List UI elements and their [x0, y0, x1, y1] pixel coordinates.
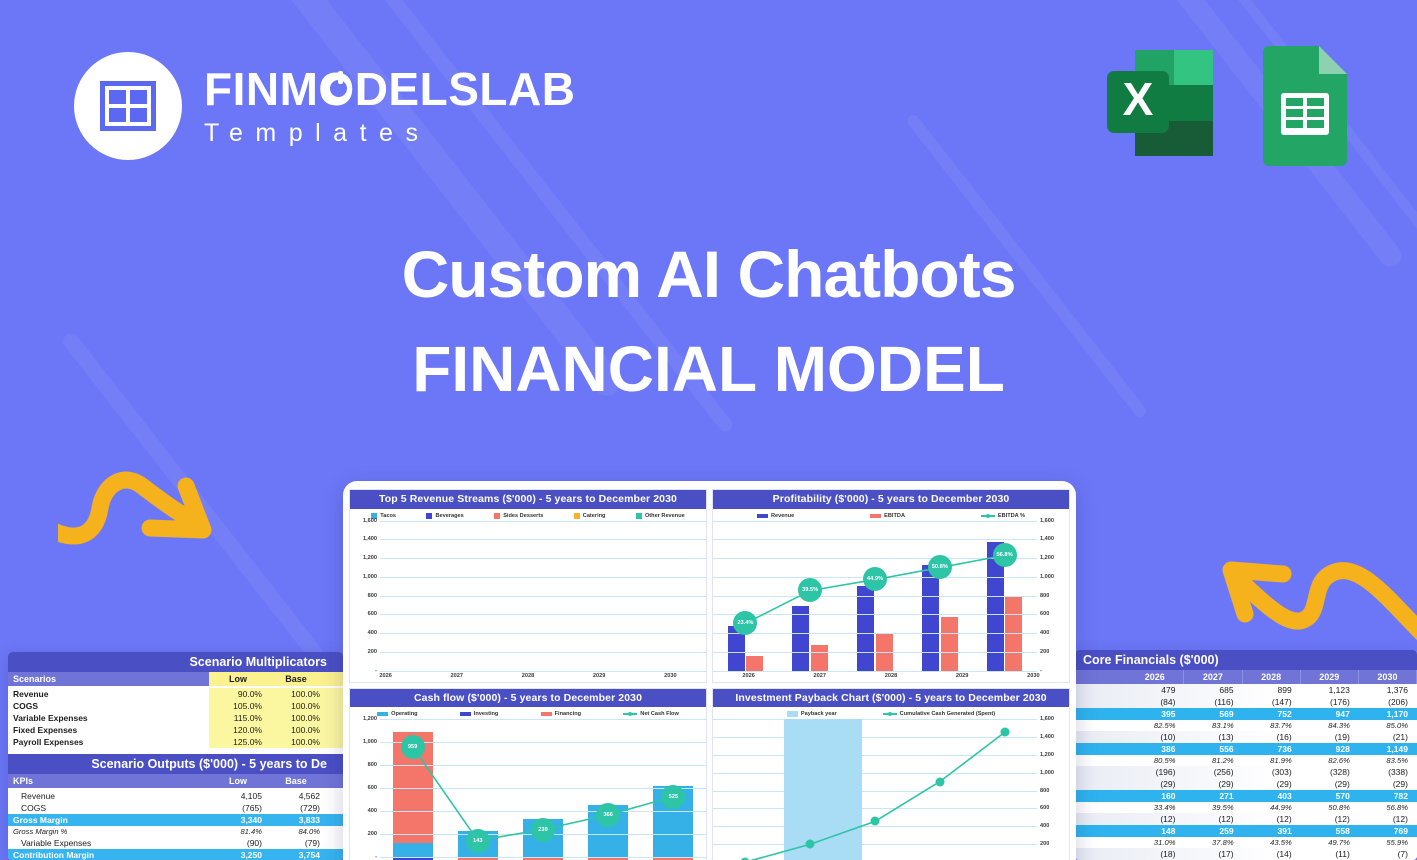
- data-point: [871, 817, 880, 826]
- chart-title: Top 5 Revenue Streams ($'000) - 5 years …: [350, 490, 706, 509]
- legend-swatch: [883, 713, 897, 715]
- legend-item: Beverages: [426, 513, 463, 519]
- table-row: 3865567369281,149: [1075, 743, 1417, 755]
- brand-subtitle: Templates: [204, 121, 575, 146]
- table-cell: 769: [1359, 825, 1417, 837]
- table-cell: 1,170: [1359, 708, 1417, 720]
- plot-area: 23.4%39.5%44.9%50.8%56.8%: [713, 521, 1037, 671]
- table-cell: (196): [1126, 766, 1184, 778]
- scenario-outputs-title: Scenario Outputs ($'000) - 5 years to De: [8, 754, 343, 774]
- header-low: Low: [209, 672, 267, 686]
- table-cell: 37.8%: [1184, 837, 1242, 848]
- y-tick: 600: [1040, 611, 1049, 617]
- y-tick: 1,000: [1040, 770, 1054, 776]
- legend-swatch: [870, 514, 881, 518]
- scenario-multiplicators-title: Scenario Multiplicators: [8, 652, 343, 672]
- table-row: (12)(12)(12)(12)(12): [1075, 813, 1417, 825]
- chart-panel-investment-payback[interactable]: Investment Payback Chart ($'000) - 5 yea…: [712, 688, 1070, 860]
- excel-icon: X: [1097, 38, 1227, 168]
- table-row: 33.4%39.5%44.9%50.8%56.8%: [1075, 802, 1417, 813]
- header-2027: 2027: [1184, 670, 1242, 684]
- table-cell: 569: [1184, 708, 1242, 720]
- y-tick: 1,000: [1040, 574, 1054, 580]
- table-cell: 82.6%: [1301, 755, 1359, 766]
- table-cell: 55.9%: [1359, 837, 1417, 848]
- x-tick: 2028: [522, 673, 534, 679]
- legend-label: Catering: [583, 513, 606, 519]
- table-row: Fixed Expenses 120.0% 100.0%: [8, 724, 343, 736]
- table-cell: (19): [1301, 731, 1359, 743]
- plot-area: [380, 521, 706, 671]
- table-row: Contribution Margin 3,250 3,754: [8, 849, 343, 860]
- table-cell: (12): [1126, 813, 1184, 825]
- row-label: Revenue: [8, 790, 209, 802]
- row-base: 4,562: [267, 790, 325, 802]
- legend-swatch: [460, 712, 471, 716]
- row-low: 125.0%: [209, 736, 267, 748]
- y-tick: 1,000: [363, 739, 377, 745]
- table-cell: (16): [1243, 731, 1301, 743]
- row-base: 100.0%: [267, 736, 325, 748]
- plot-area: [713, 719, 1037, 860]
- chart-legend: Payback year Cumulative Cash Generated (…: [713, 707, 1069, 719]
- headline-line-2: FINANCIAL MODEL: [0, 332, 1417, 408]
- legend-swatch: [636, 513, 642, 519]
- table-cell: (12): [1184, 813, 1242, 825]
- table-row: (196)(256)(303)(328)(338): [1075, 766, 1417, 778]
- table-cell: 160: [1126, 790, 1184, 802]
- legend-label: Net Cash Flow: [640, 711, 679, 717]
- data-label-bubble: 56.8%: [993, 543, 1017, 567]
- curved-arrow-right-icon: [58, 450, 238, 565]
- y-tick: 200: [368, 649, 377, 655]
- core-financials-header: 2026 2027 2028 2029 2030: [1075, 670, 1417, 684]
- table-row: Revenue 90.0% 100.0%: [8, 688, 343, 700]
- x-tick: 2028: [885, 673, 897, 679]
- y-tick: -: [375, 668, 377, 674]
- table-cell: 899: [1243, 684, 1301, 696]
- table-row: (18)(17)(14)(11)(7): [1075, 848, 1417, 860]
- chart-plot: 23.4%39.5%44.9%50.8%56.8% 1,6001,4001,20…: [713, 521, 1069, 671]
- x-tick: 2026: [742, 673, 754, 679]
- data-label-bubble: 239: [531, 818, 555, 842]
- table-cell: 39.5%: [1184, 802, 1242, 813]
- x-tick: 2027: [451, 673, 463, 679]
- ebitda-percent-line: [713, 521, 1037, 671]
- y-tick: 800: [1040, 788, 1049, 794]
- table-row: 4796858991,1231,376: [1075, 684, 1417, 696]
- table-cell: (12): [1301, 813, 1359, 825]
- legend-swatch: [623, 713, 637, 715]
- table-cell: 259: [1184, 825, 1242, 837]
- legend-swatch: [787, 711, 798, 717]
- row-label: COGS: [8, 700, 209, 712]
- chart-panel-revenue-streams[interactable]: Top 5 Revenue Streams ($'000) - 5 years …: [349, 489, 707, 683]
- data-label-bubble: 366: [596, 803, 620, 827]
- table-row: COGS (765) (729): [8, 802, 343, 814]
- header-2029: 2029: [1301, 670, 1359, 684]
- row-base: 3,833: [267, 814, 325, 826]
- table-cell: 386: [1126, 743, 1184, 755]
- core-financials-body: 4796858991,1231,376(84)(116)(147)(176)(2…: [1075, 684, 1417, 860]
- table-cell: (147): [1243, 696, 1301, 708]
- row-label: Gross Margin: [8, 814, 209, 826]
- chart-title: Profitability ($'000) - 5 years to Decem…: [713, 490, 1069, 509]
- y-tick: 400: [368, 630, 377, 636]
- table-cell: 83.1%: [1184, 720, 1242, 731]
- table-row: Variable Expenses 115.0% 100.0%: [8, 712, 343, 724]
- table-cell: 44.9%: [1243, 802, 1301, 813]
- table-cell: (84): [1126, 696, 1184, 708]
- table-cell: 50.8%: [1301, 802, 1359, 813]
- table-cell: (12): [1359, 813, 1417, 825]
- row-low: 105.0%: [209, 700, 267, 712]
- table-cell: (29): [1359, 778, 1417, 790]
- table-cell: 736: [1243, 743, 1301, 755]
- y-tick: 600: [368, 611, 377, 617]
- data-label-bubble: 143: [466, 829, 490, 853]
- y-tick: 1,600: [1040, 716, 1054, 722]
- legend-label: EBITDA: [884, 513, 905, 519]
- y-tick: 600: [368, 785, 377, 791]
- y-tick: 200: [1040, 649, 1049, 655]
- headline-line-1: Custom AI Chatbots: [0, 236, 1417, 314]
- table-cell: (10): [1126, 731, 1184, 743]
- table-row: (84)(116)(147)(176)(206): [1075, 696, 1417, 708]
- table-cell: (17): [1184, 848, 1242, 860]
- table-cell: (29): [1184, 778, 1242, 790]
- y-tick: 600: [1040, 805, 1049, 811]
- y-tick: -: [1040, 668, 1042, 674]
- legend-swatch: [757, 514, 768, 518]
- table-cell: 782: [1359, 790, 1417, 802]
- table-cell: 49.7%: [1301, 837, 1359, 848]
- power-ring-icon: [325, 75, 352, 102]
- table-row: COGS 105.0% 100.0%: [8, 700, 343, 712]
- row-low: 3,340: [209, 814, 267, 826]
- x-tick: 2030: [1027, 673, 1039, 679]
- cumulative-cash-line: [713, 719, 1037, 860]
- core-financials-title: Core Financials ($'000): [1075, 650, 1417, 670]
- scenario-outputs-header: KPIs Low Base: [8, 774, 343, 788]
- plot-area: 959143239366525: [380, 719, 706, 860]
- y-tick: 800: [1040, 593, 1049, 599]
- table-cell: 56.8%: [1359, 802, 1417, 813]
- table-cell: 403: [1243, 790, 1301, 802]
- row-base: 100.0%: [267, 700, 325, 712]
- table-cell: 391: [1243, 825, 1301, 837]
- chart-plot: 1,2001,000800600400200-(200) 95914323936…: [350, 719, 706, 860]
- row-label: Contribution Margin: [8, 849, 209, 860]
- table-cell: (18): [1126, 848, 1184, 860]
- y-tick: 1,400: [1040, 536, 1054, 542]
- table-cell: (176): [1301, 696, 1359, 708]
- brand-name: FINMODELSLAB: [204, 66, 575, 112]
- legend-item: Net Cash Flow: [623, 711, 679, 717]
- row-label: Gross Margin %: [8, 826, 209, 837]
- table-cell: 947: [1301, 708, 1359, 720]
- legend-item: Investing: [460, 711, 499, 717]
- y-axis: 1,6001,4001,2001,000800600400200-: [350, 521, 380, 671]
- table-cell: (29): [1243, 778, 1301, 790]
- x-tick: 2026: [379, 673, 391, 679]
- row-base: 3,754: [267, 849, 325, 860]
- y-tick: 400: [1040, 630, 1049, 636]
- header-base: Base: [267, 672, 325, 686]
- data-label-bubble: 50.8%: [928, 555, 952, 579]
- x-tick: 2029: [593, 673, 605, 679]
- table-cell: 81.2%: [1184, 755, 1242, 766]
- row-base: 100.0%: [267, 688, 325, 700]
- data-label-bubble: 39.5%: [798, 578, 822, 602]
- header-low: Low: [209, 774, 267, 788]
- legend-item: Payback year: [787, 711, 837, 717]
- table-cell: (256): [1184, 766, 1242, 778]
- row-base: 100.0%: [267, 712, 325, 724]
- data-label-bubble: 959: [401, 735, 425, 759]
- row-low: 120.0%: [209, 724, 267, 736]
- table-cell: 556: [1184, 743, 1242, 755]
- table-row: 80.5%81.2%81.9%82.6%83.5%: [1075, 755, 1417, 766]
- brand-logo: FINMODELSLAB Templates: [74, 52, 575, 160]
- legend-label: Beverages: [435, 513, 463, 519]
- y-axis: 1,6001,4001,2001,000800600400200-: [1037, 521, 1069, 671]
- header-2026: 2026: [1126, 670, 1184, 684]
- dashboard-card[interactable]: Top 5 Revenue Streams ($'000) - 5 years …: [343, 481, 1076, 860]
- legend-label: Sides Desserts: [503, 513, 543, 519]
- y-tick: 200: [368, 831, 377, 837]
- chart-title: Investment Payback Chart ($'000) - 5 yea…: [713, 689, 1069, 708]
- table-row: 3955697529471,170: [1075, 708, 1417, 720]
- legend-swatch: [574, 513, 580, 519]
- y-tick: 800: [368, 762, 377, 768]
- table-cell: 928: [1301, 743, 1359, 755]
- table-cell: 148: [1126, 825, 1184, 837]
- data-point: [935, 777, 944, 786]
- table-cell: 1,123: [1301, 684, 1359, 696]
- page-title: Custom AI Chatbots FINANCIAL MODEL: [0, 236, 1417, 407]
- header-2030: 2030: [1359, 670, 1417, 684]
- y-tick: 1,600: [1040, 518, 1054, 524]
- scenario-sheet[interactable]: Scenario Multiplicators Scenarios Low Ba…: [8, 652, 343, 860]
- chart-panel-profitability[interactable]: Profitability ($'000) - 5 years to Decem…: [712, 489, 1070, 683]
- chart-legend: Tacos Beverages Sides Desserts Catering …: [350, 509, 706, 521]
- y-tick: 1,200: [1040, 555, 1054, 561]
- y-tick: -: [375, 854, 377, 860]
- y-tick: 1,200: [363, 555, 377, 561]
- row-base: 84.0%: [267, 826, 325, 837]
- table-row: 82.5%83.1%83.7%84.3%85.0%: [1075, 720, 1417, 731]
- svg-text:X: X: [1123, 73, 1154, 125]
- table-cell: (338): [1359, 766, 1417, 778]
- legend-label: Payback year: [801, 711, 837, 717]
- table-cell: 570: [1301, 790, 1359, 802]
- legend-item: Cumulative Cash Generated (Spent): [883, 711, 995, 717]
- y-tick: 800: [368, 593, 377, 599]
- legend-label: EBITDA %: [998, 513, 1025, 519]
- legend-label: Tacos: [380, 513, 396, 519]
- row-low: 3,250: [209, 849, 267, 860]
- y-axis: 1,2001,000800600400200-(200): [350, 719, 380, 860]
- table-row: Variable Expenses (90) (79): [8, 837, 343, 849]
- legend-swatch: [981, 515, 995, 517]
- table-cell: (14): [1243, 848, 1301, 860]
- row-label: Variable Expenses: [8, 837, 209, 849]
- row-label: Revenue: [8, 688, 209, 700]
- core-financials-sheet[interactable]: Core Financials ($'000) 2026 2027 2028 2…: [1075, 650, 1417, 860]
- curved-arrow-left-icon: [1195, 548, 1417, 663]
- chart-plot: 1,6001,4001,2001,000800600400200-(200): [713, 719, 1069, 860]
- legend-label: Financing: [555, 711, 581, 717]
- table-cell: (7): [1359, 848, 1417, 860]
- row-low: 115.0%: [209, 712, 267, 724]
- table-cell: 752: [1243, 708, 1301, 720]
- row-label: Fixed Expenses: [8, 724, 209, 736]
- data-point: [1000, 728, 1009, 737]
- table-row: 160271403570782: [1075, 790, 1417, 802]
- x-tick: 2027: [814, 673, 826, 679]
- table-cell: (21): [1359, 731, 1417, 743]
- table-cell: (13): [1184, 731, 1242, 743]
- y-tick: 1,600: [363, 518, 377, 524]
- table-cell: 1,149: [1359, 743, 1417, 755]
- chart-plot: 1,6001,4001,2001,000800600400200-: [350, 521, 706, 671]
- table-cell: 43.5%: [1243, 837, 1301, 848]
- table-row: (10)(13)(16)(19)(21): [1075, 731, 1417, 743]
- chart-title: Cash flow ($'000) - 5 years to December …: [350, 689, 706, 708]
- y-tick: 1,200: [1040, 752, 1054, 758]
- row-low: 4,105: [209, 790, 267, 802]
- table-cell: (328): [1301, 766, 1359, 778]
- legend-item: Operating: [377, 711, 417, 717]
- table-row: Payroll Expenses 125.0% 100.0%: [8, 736, 343, 748]
- header-scenarios: Scenarios: [8, 672, 209, 686]
- table-cell: 84.3%: [1301, 720, 1359, 731]
- table-cell: 271: [1184, 790, 1242, 802]
- table-cell: 81.9%: [1243, 755, 1301, 766]
- table-cell: 395: [1126, 708, 1184, 720]
- table-cell: (303): [1243, 766, 1301, 778]
- chart-legend: Operating Investing Financing Net Cash F…: [350, 707, 706, 719]
- table-row: 31.0%37.8%43.5%49.7%55.9%: [1075, 837, 1417, 848]
- table-row: Gross Margin 3,340 3,833: [8, 814, 343, 826]
- legend-swatch: [426, 513, 432, 519]
- legend-item: Sides Desserts: [494, 513, 543, 519]
- row-low: 90.0%: [209, 688, 267, 700]
- table-cell: (116): [1184, 696, 1242, 708]
- x-tick: 2029: [956, 673, 968, 679]
- legend-swatch: [377, 712, 388, 716]
- table-cell: 83.7%: [1243, 720, 1301, 731]
- header-base: Base: [267, 774, 325, 788]
- legend-label: Operating: [391, 711, 417, 717]
- table-row: Revenue 4,105 4,562: [8, 790, 343, 802]
- grid-icon: [100, 81, 156, 131]
- y-tick: 400: [1040, 823, 1049, 829]
- y-tick: 400: [368, 808, 377, 814]
- y-axis: 1,6001,4001,2001,000800600400200-(200): [1037, 719, 1069, 860]
- table-cell: 82.5%: [1126, 720, 1184, 731]
- table-cell: 685: [1184, 684, 1242, 696]
- row-label: COGS: [8, 802, 209, 814]
- table-cell: (206): [1359, 696, 1417, 708]
- y-tick: 1,400: [1040, 734, 1054, 740]
- table-cell: 83.5%: [1359, 755, 1417, 766]
- row-label: Variable Expenses: [8, 712, 209, 724]
- x-axis: 20262027202820292030: [713, 671, 1069, 682]
- row-label: Payroll Expenses: [8, 736, 209, 748]
- data-label-bubble: 23.4%: [733, 611, 757, 635]
- legend-item: EBITDA %: [981, 513, 1025, 519]
- legend-label: Revenue: [771, 513, 794, 519]
- google-sheets-icon: [1255, 38, 1355, 168]
- legend-label: Investing: [474, 711, 499, 717]
- table-cell: 479: [1126, 684, 1184, 696]
- legend-item: Catering: [574, 513, 606, 519]
- table-cell: 80.5%: [1126, 755, 1184, 766]
- row-low: (90): [209, 837, 267, 849]
- scenario-multiplicators-header: Scenarios Low Base: [8, 672, 343, 686]
- data-label-bubble: 525: [661, 785, 685, 809]
- row-low: (765): [209, 802, 267, 814]
- chart-legend: Revenue EBITDA EBITDA %: [713, 509, 1069, 521]
- table-row: (29)(29)(29)(29)(29): [1075, 778, 1417, 790]
- table-cell: (29): [1301, 778, 1359, 790]
- y-tick: 1,200: [363, 716, 377, 722]
- brand-name-text: FINMODELSLAB: [204, 63, 575, 115]
- legend-item: Revenue: [757, 513, 794, 519]
- x-axis: 20262027202820292030: [350, 671, 706, 682]
- row-low: 81.4%: [209, 826, 267, 837]
- header-kpis: KPIs: [8, 774, 209, 788]
- row-base: 100.0%: [267, 724, 325, 736]
- table-cell: (11): [1301, 848, 1359, 860]
- file-format-icons: X: [1097, 38, 1355, 168]
- logo-badge: [74, 52, 182, 160]
- legend-label: Cumulative Cash Generated (Spent): [900, 711, 995, 717]
- table-cell: (29): [1126, 778, 1184, 790]
- table-cell: 31.0%: [1126, 837, 1184, 848]
- table-cell: 1,376: [1359, 684, 1417, 696]
- data-label-bubble: 44.9%: [863, 567, 887, 591]
- table-row: Gross Margin % 81.4% 84.0%: [8, 826, 343, 837]
- legend-item: Financing: [541, 711, 581, 717]
- row-base: (729): [267, 802, 325, 814]
- table-cell: 558: [1301, 825, 1359, 837]
- legend-swatch: [494, 513, 500, 519]
- table-cell: (12): [1243, 813, 1301, 825]
- table-row: 148259391558769: [1075, 825, 1417, 837]
- legend-swatch: [541, 712, 552, 716]
- y-tick: 1,400: [363, 536, 377, 542]
- data-point: [806, 840, 815, 849]
- x-tick: 2030: [664, 673, 676, 679]
- legend-label: Other Revenue: [645, 513, 685, 519]
- legend-item: EBITDA: [870, 513, 905, 519]
- y-tick: 1,000: [363, 574, 377, 580]
- chart-panel-cash-flow[interactable]: Cash flow ($'000) - 5 years to December …: [349, 688, 707, 860]
- header-2028: 2028: [1243, 670, 1301, 684]
- table-cell: 33.4%: [1126, 802, 1184, 813]
- y-tick: 200: [1040, 841, 1049, 847]
- table-cell: 85.0%: [1359, 720, 1417, 731]
- row-base: (79): [267, 837, 325, 849]
- legend-item: Other Revenue: [636, 513, 685, 519]
